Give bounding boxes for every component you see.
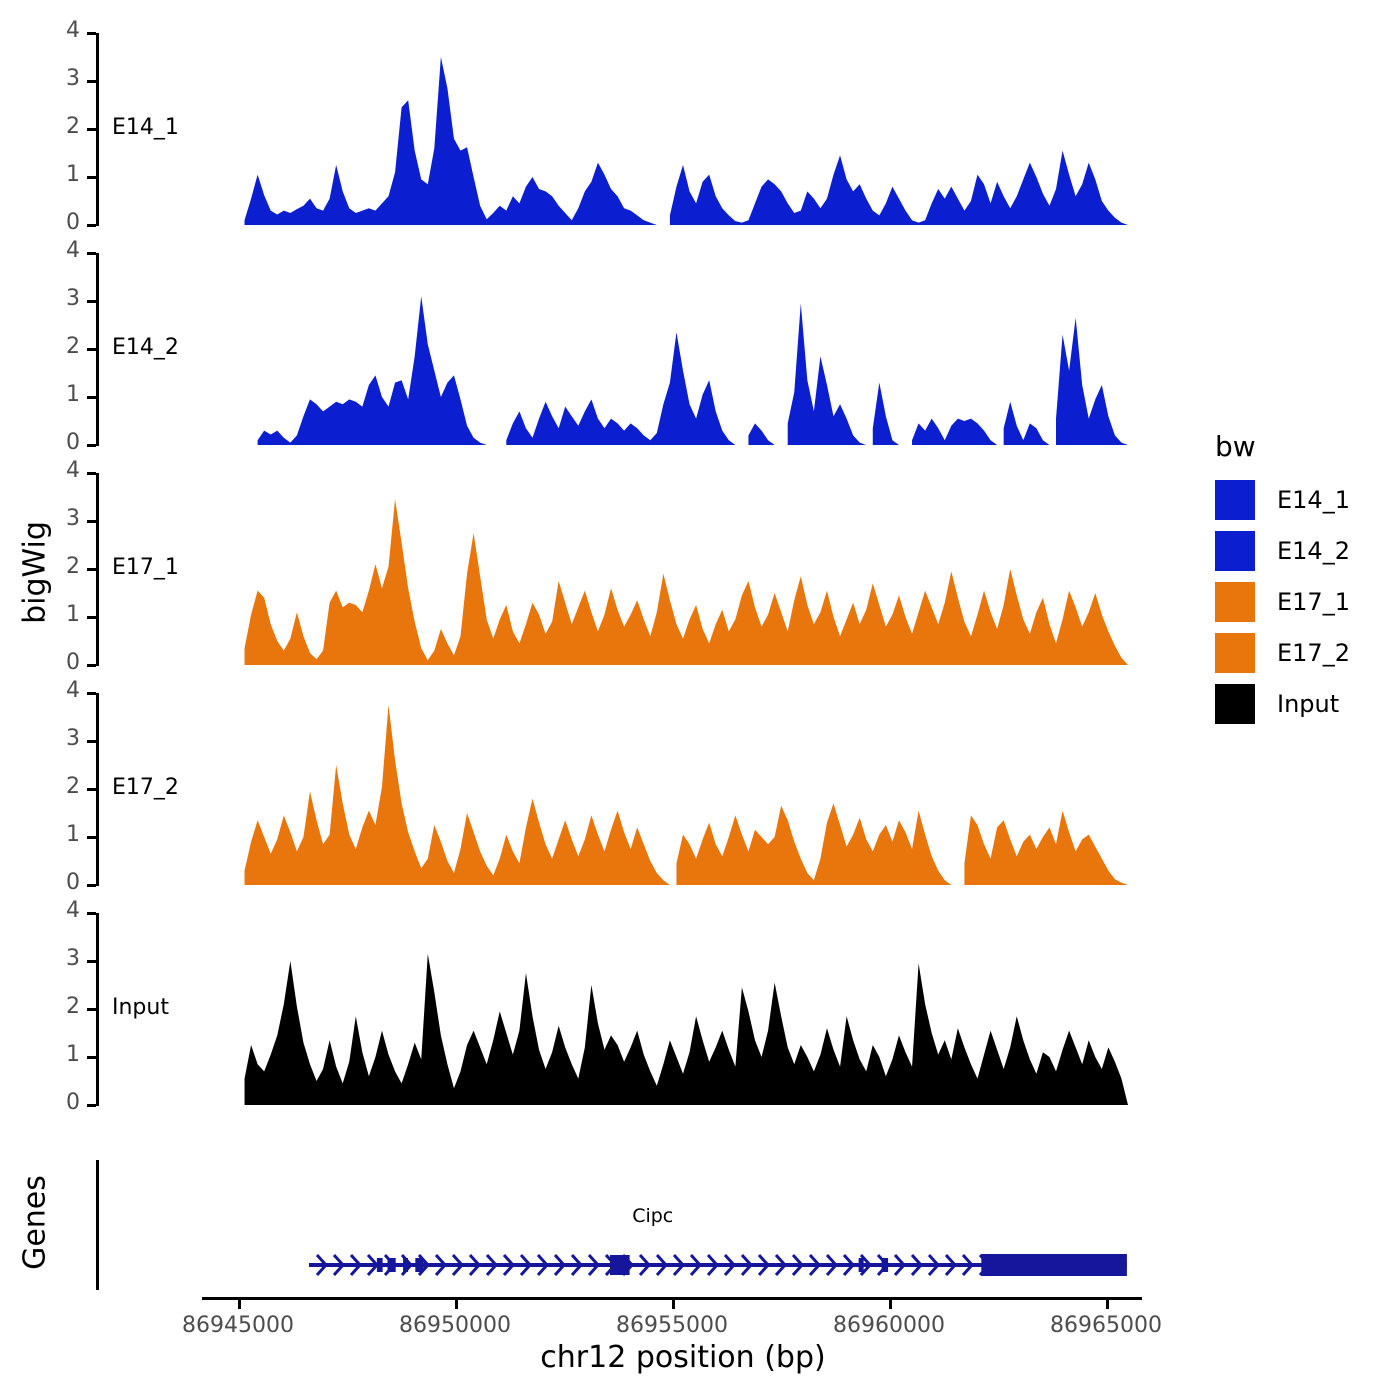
exon-block bbox=[377, 1258, 383, 1272]
panel-label-e17_1: E17_1 bbox=[112, 555, 179, 580]
y-tick-mark bbox=[87, 396, 96, 399]
y-tick-label: 2 bbox=[38, 114, 80, 139]
y-tick-mark bbox=[87, 128, 96, 131]
y-tick-label: 3 bbox=[38, 286, 80, 311]
y-tick-label: 1 bbox=[38, 822, 80, 847]
y-axis-line-e14_1 bbox=[96, 33, 99, 226]
x-tick-label: 86950000 bbox=[355, 1313, 555, 1338]
legend-label-e17_1: E17_1 bbox=[1277, 588, 1350, 616]
y-tick-label: 1 bbox=[38, 1042, 80, 1067]
y-tick-mark bbox=[87, 568, 96, 571]
x-tick-label: 86945000 bbox=[138, 1313, 338, 1338]
y-tick-mark bbox=[87, 472, 96, 475]
area-path bbox=[258, 296, 1128, 445]
panel-label-e14_2: E14_2 bbox=[112, 335, 179, 360]
y-tick-label: 0 bbox=[38, 650, 80, 675]
y-tick-mark bbox=[87, 740, 96, 743]
y-tick-mark bbox=[87, 444, 96, 447]
y-axis-line-e17_1 bbox=[96, 473, 99, 666]
area-path bbox=[245, 705, 1128, 885]
y-tick-mark bbox=[87, 252, 96, 255]
x-tick-mark bbox=[889, 1300, 892, 1309]
legend-swatch-e17_1 bbox=[1215, 582, 1255, 622]
legend-swatch-e14_2 bbox=[1215, 531, 1255, 571]
y-tick-mark bbox=[87, 80, 96, 83]
legend-swatch-e14_1 bbox=[1215, 480, 1255, 520]
panel-label-input: Input bbox=[112, 995, 169, 1020]
y-tick-mark bbox=[87, 1008, 96, 1011]
y-tick-label: 0 bbox=[38, 1090, 80, 1115]
track-e17_2 bbox=[238, 693, 1128, 887]
y-tick-mark bbox=[87, 884, 96, 887]
legend-swatch-input bbox=[1215, 684, 1255, 724]
y-tick-label: 1 bbox=[38, 382, 80, 407]
y-tick-mark bbox=[87, 692, 96, 695]
exon-block bbox=[416, 1258, 424, 1272]
y-tick-mark bbox=[87, 348, 96, 351]
legend-swatch-e17_2 bbox=[1215, 633, 1255, 673]
legend-label-e14_2: E14_2 bbox=[1277, 537, 1350, 565]
genes-axis-title: Genes bbox=[18, 1153, 53, 1293]
x-tick-mark bbox=[672, 1300, 675, 1309]
y-tick-label: 4 bbox=[38, 238, 80, 263]
y-tick-label: 2 bbox=[38, 994, 80, 1019]
y-tick-label: 2 bbox=[38, 334, 80, 359]
area-path bbox=[245, 57, 1128, 225]
y-tick-label: 3 bbox=[38, 946, 80, 971]
y-axis-line-e17_2 bbox=[96, 693, 99, 886]
y-tick-mark bbox=[87, 224, 96, 227]
y-tick-label: 3 bbox=[38, 66, 80, 91]
x-tick-label: 86955000 bbox=[572, 1313, 772, 1338]
y-tick-label: 4 bbox=[38, 18, 80, 43]
x-tick-mark bbox=[1106, 1300, 1109, 1309]
y-tick-mark bbox=[87, 960, 96, 963]
area-path bbox=[245, 954, 1128, 1105]
legend-label-e17_2: E17_2 bbox=[1277, 639, 1350, 667]
y-tick-label: 2 bbox=[38, 554, 80, 579]
y-tick-mark bbox=[87, 32, 96, 35]
y-tick-mark bbox=[87, 664, 96, 667]
x-tick-mark bbox=[238, 1300, 241, 1309]
legend-label-e14_1: E14_1 bbox=[1277, 486, 1350, 514]
track-e17_1 bbox=[238, 473, 1128, 667]
x-tick-label: 86960000 bbox=[789, 1313, 989, 1338]
exon-block bbox=[859, 1258, 864, 1272]
y-tick-mark bbox=[87, 176, 96, 179]
y-tick-mark bbox=[87, 788, 96, 791]
y-tick-mark bbox=[87, 1104, 96, 1107]
y-tick-label: 3 bbox=[38, 506, 80, 531]
legend-label-input: Input bbox=[1277, 690, 1339, 718]
exon-block bbox=[388, 1258, 396, 1272]
y-tick-mark bbox=[87, 616, 96, 619]
y-tick-label: 4 bbox=[38, 458, 80, 483]
y-tick-label: 3 bbox=[38, 726, 80, 751]
track-e14_2 bbox=[238, 253, 1128, 447]
track-e14_1 bbox=[238, 33, 1128, 227]
exon-block bbox=[882, 1258, 889, 1272]
area-path bbox=[245, 499, 1128, 665]
x-tick-mark bbox=[455, 1300, 458, 1309]
y-tick-label: 1 bbox=[38, 162, 80, 187]
y-tick-label: 0 bbox=[38, 210, 80, 235]
exon-block bbox=[610, 1255, 630, 1275]
panel-label-e14_1: E14_1 bbox=[112, 115, 179, 140]
exon-block bbox=[403, 1258, 408, 1272]
y-tick-label: 2 bbox=[38, 774, 80, 799]
y-tick-label: 1 bbox=[38, 602, 80, 627]
y-tick-label: 4 bbox=[38, 678, 80, 703]
x-axis-title: chr12 position (bp) bbox=[238, 1340, 1128, 1375]
y-axis-line-input bbox=[96, 913, 99, 1106]
y-tick-mark bbox=[87, 1056, 96, 1059]
y-tick-mark bbox=[87, 300, 96, 303]
y-tick-mark bbox=[87, 836, 96, 839]
panel-label-e17_2: E17_2 bbox=[112, 775, 179, 800]
y-tick-mark bbox=[87, 912, 96, 915]
y-axis-line-e14_2 bbox=[96, 253, 99, 446]
gene-name-label: Cipc bbox=[593, 1205, 713, 1227]
track-input bbox=[238, 913, 1128, 1107]
y-tick-label: 4 bbox=[38, 898, 80, 923]
x-tick-label: 86965000 bbox=[1006, 1313, 1206, 1338]
genes-axis-line bbox=[96, 1160, 99, 1290]
y-tick-mark bbox=[87, 520, 96, 523]
y-tick-label: 0 bbox=[38, 870, 80, 895]
y-tick-label: 0 bbox=[38, 430, 80, 455]
exon-block bbox=[982, 1254, 1128, 1276]
legend-title: bw bbox=[1215, 430, 1256, 463]
gene-model-cipc[interactable] bbox=[309, 1245, 1131, 1285]
